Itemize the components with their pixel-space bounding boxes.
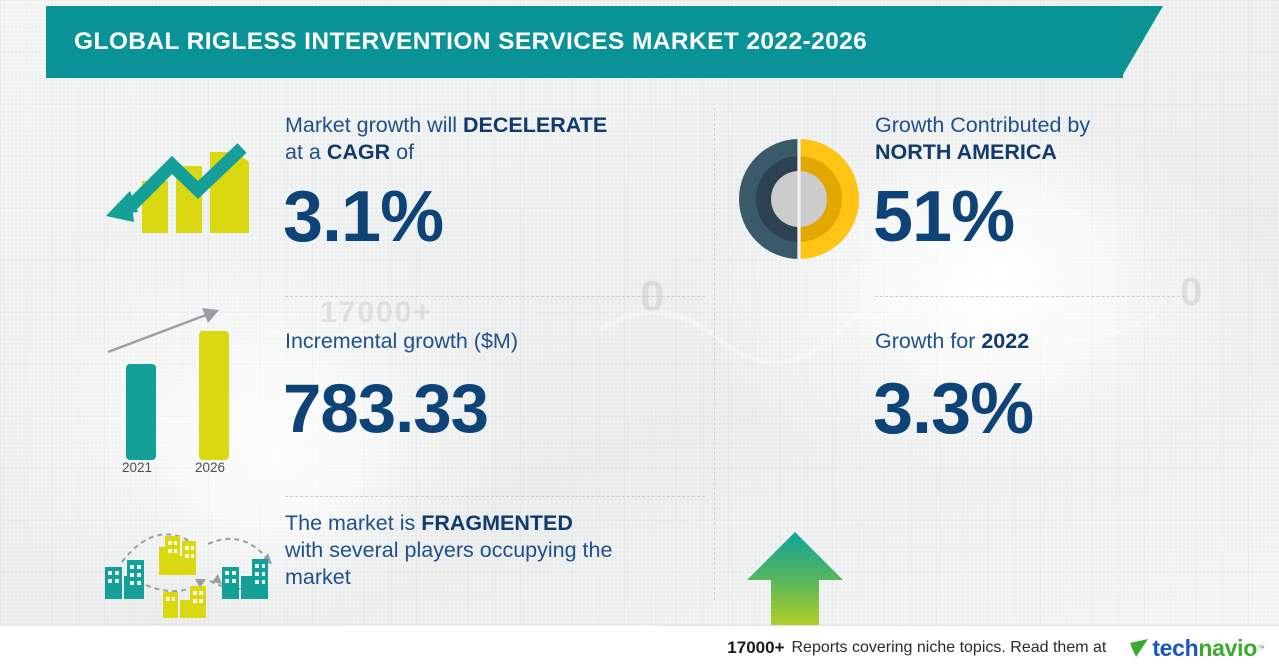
structure-line2: with several players occupying the bbox=[285, 538, 612, 562]
growth-year-bold: 2022 bbox=[981, 329, 1029, 353]
cagr-lead-text: Market growth will DECELERATE at a CAGR … bbox=[285, 112, 705, 166]
cagr-lead-line1-bold: DECELERATE bbox=[463, 113, 607, 137]
structure-line3: market bbox=[285, 565, 351, 589]
donut-chart-icon bbox=[734, 134, 864, 264]
report-count: 17000+ bbox=[727, 638, 784, 658]
growth-year-value: 3.3% bbox=[873, 372, 1033, 446]
incremental-growth-label: Incremental growth ($M) bbox=[285, 328, 518, 355]
card-incremental-growth: 2021 2026 Incremental growth ($M) 783.33 bbox=[86, 296, 716, 496]
logo-text-tech: tech bbox=[1152, 635, 1198, 662]
cagr-lead-line2-bold: CAGR bbox=[327, 140, 390, 164]
market-structure-text: The market is FRAGMENTED with several pl… bbox=[285, 510, 705, 591]
bar-label-2021: 2021 bbox=[122, 460, 152, 475]
right-column: Growth Contributed by NORTH AMERICA 51% bbox=[726, 96, 1196, 596]
infographic-canvas: 17000+ 0 0 GLOBAL RIGLESS INTERVENTION S… bbox=[0, 0, 1279, 670]
incremental-growth-value: 783.33 bbox=[283, 372, 488, 446]
cagr-lead-line2-tail: of bbox=[390, 140, 414, 164]
structure-line1-bold: FRAGMENTED bbox=[421, 511, 573, 535]
growth-year-plain: Growth for bbox=[875, 329, 981, 353]
region-line2-bold: NORTH AMERICA bbox=[875, 140, 1057, 164]
region-value: 51% bbox=[873, 180, 1014, 254]
region-line1: Growth Contributed by bbox=[875, 113, 1090, 137]
growth-year-lead-text: Growth for 2022 bbox=[875, 328, 1029, 355]
footer-bar: 17000+ Reports covering niche topics. Re… bbox=[0, 626, 1279, 670]
logo-text-navio: navio bbox=[1198, 635, 1257, 662]
structure-line1-plain: The market is bbox=[285, 511, 421, 535]
footer-text: Reports covering niche topics. Read them… bbox=[792, 639, 1107, 657]
card-cagr: Market growth will DECELERATE at a CAGR … bbox=[86, 96, 716, 296]
header-ribbon: GLOBAL RIGLESS INTERVENTION SERVICES MAR… bbox=[46, 6, 1121, 78]
left-column: Market growth will DECELERATE at a CAGR … bbox=[86, 96, 716, 626]
technavio-logo[interactable]: tech navio ™ bbox=[1128, 635, 1265, 662]
cagr-value: 3.1% bbox=[283, 180, 443, 254]
fragmented-market-icon bbox=[86, 514, 276, 624]
card-market-structure: The market is FRAGMENTED with several pl… bbox=[86, 496, 716, 646]
cagr-lead-line1-plain: Market growth will bbox=[285, 113, 463, 137]
cagr-lead-line2-plain: at a bbox=[285, 140, 327, 164]
page-title: GLOBAL RIGLESS INTERVENTION SERVICES MAR… bbox=[74, 28, 867, 56]
technavio-mark-icon bbox=[1128, 636, 1150, 660]
ribbon-fold bbox=[1121, 6, 1163, 78]
logo-trademark: ™ bbox=[1257, 644, 1265, 653]
declining-bar-chart-icon bbox=[86, 118, 266, 243]
card-region-contribution: Growth Contributed by NORTH AMERICA 51% bbox=[726, 96, 1196, 296]
card-growth-year: Growth for 2022 3.3% bbox=[726, 296, 1196, 496]
growth-bar-chart-icon: 2021 2026 bbox=[86, 292, 266, 477]
region-lead-text: Growth Contributed by NORTH AMERICA bbox=[875, 112, 1175, 166]
bar-label-2026: 2026 bbox=[195, 460, 225, 475]
